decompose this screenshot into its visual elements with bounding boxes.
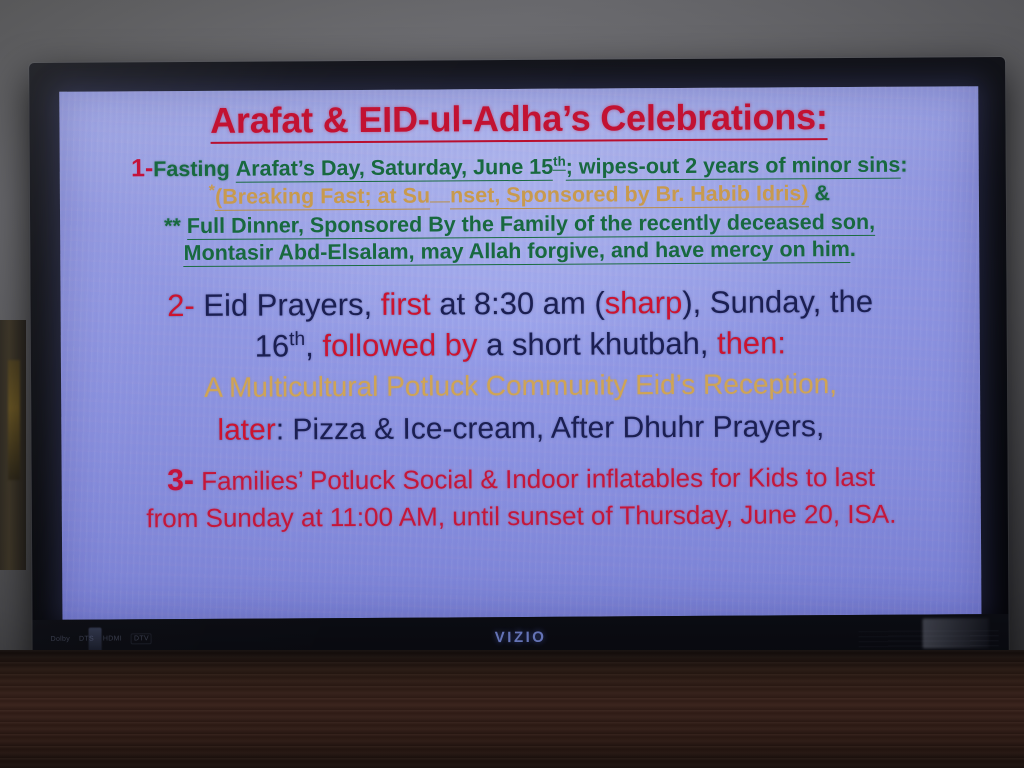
item1-line-2: *(Breaking Fast; at Sunset, Sponsored by…: [74, 181, 965, 212]
item2-sixteen: 16: [255, 328, 290, 363]
item1-note-gap: [430, 201, 450, 203]
item1-superscript-th: th: [553, 154, 566, 171]
item3-line-2: from Sunday at 11:00 AM, until sunset of…: [76, 498, 967, 535]
item1-dinner-line-2: Montasir Abd-Elsalam, may Allah forgive,…: [184, 237, 850, 267]
slide-title-wrap: Arafat & EID-ul-Adha’s Celebrations:: [73, 92, 964, 145]
slide-item-2: 2- Eid Prayers, first at 8:30 am (sharp)…: [74, 282, 966, 449]
room-scene: Arafat & EID-ul-Adha’s Celebrations: 1-F…: [0, 0, 1024, 768]
item3-line-1: 3- Families’ Potluck Social & Indoor inf…: [76, 458, 967, 499]
item1-tail: wipes-out 2 years of minor sins: [573, 153, 901, 181]
item2-later-rest: : Pizza & Ice-cream, After Dhuhr Prayers…: [276, 410, 825, 446]
item2-line-2: 16th, followed by a short khutbah, then:: [75, 323, 966, 366]
item1-double-asterisk: **: [164, 214, 181, 238]
item2-then: then:: [717, 325, 786, 360]
item1-line-1: 1-Fasting Arafat’s Day, Saturday, June 1…: [74, 149, 965, 184]
item1-note-b: nset, Sponsored by Br. Habib Idris): [450, 182, 809, 210]
presentation-slide: Arafat & EID-ul-Adha’s Celebrations: 1-F…: [59, 86, 981, 620]
background-object-left-highlight: [8, 360, 20, 480]
item2-seg-4: a short khutbah,: [477, 326, 717, 362]
item2-potluck-line: A Multicultural Potluck Community Eid’s …: [75, 366, 966, 405]
item2-first: first: [381, 286, 431, 321]
item1-lead: Fasting: [153, 157, 230, 181]
item1-dinner-line-1: Full Dinner, Sponsored By the Family of …: [187, 210, 875, 240]
item2-seg-2: at 8:30 am (: [431, 285, 605, 321]
slide-item-3: 3- Families’ Potluck Social & Indoor inf…: [76, 458, 967, 535]
dolby-badge: Dolby: [51, 635, 70, 644]
wood-surface: [0, 650, 1024, 768]
item3-text-1: Families’ Potluck Social & Indoor inflat…: [194, 461, 875, 495]
item2-followed-by: followed by: [322, 327, 477, 363]
item1-number: 1-: [131, 155, 153, 183]
item1-note-ampersand: &: [808, 181, 830, 205]
item1-line-3: ** Full Dinner, Sponsored By the Family …: [74, 209, 965, 240]
item2-sharp: sharp: [605, 285, 683, 320]
item2-later: later: [217, 413, 276, 446]
item2-comma: ,: [305, 328, 322, 363]
item2-line-1: 2- Eid Prayers, first at 8:30 am (sharp)…: [74, 282, 965, 325]
item1-dinner-period: .: [850, 237, 856, 261]
item2-sixteen-superscript: th: [289, 329, 305, 350]
vizio-brand-logo: VIZIO: [495, 629, 547, 646]
item1-underlined-a: Arafat’s Day, Saturday, June 15: [236, 155, 554, 183]
hdmi-badge: HDMI: [103, 634, 122, 643]
slide-item-1: 1-Fasting Arafat’s Day, Saturday, June 1…: [74, 149, 966, 268]
slide-title: Arafat & EID-ul-Adha’s Celebrations:: [210, 97, 828, 144]
television: Arafat & EID-ul-Adha’s Celebrations: 1-F…: [29, 57, 1009, 691]
item2-seg-3: ), Sunday, the: [682, 284, 873, 320]
item1-line-4: Montasir Abd-Elsalam, may Allah forgive,…: [74, 236, 965, 267]
bezel-reflection: [923, 618, 989, 648]
dtv-badge: DTV: [131, 633, 152, 644]
item2-seg-1: Eid Prayers,: [195, 287, 381, 323]
item1-end-colon: :: [900, 153, 907, 177]
item2-later-line: later: Pizza & Ice-cream, After Dhuhr Pr…: [75, 408, 966, 449]
item1-note-a: (Breaking Fast; at Su: [215, 184, 430, 211]
tv-screen: Arafat & EID-ul-Adha’s Celebrations: 1-F…: [59, 86, 981, 620]
item2-number: 2-: [167, 288, 195, 323]
item3-number: 3-: [167, 464, 194, 497]
